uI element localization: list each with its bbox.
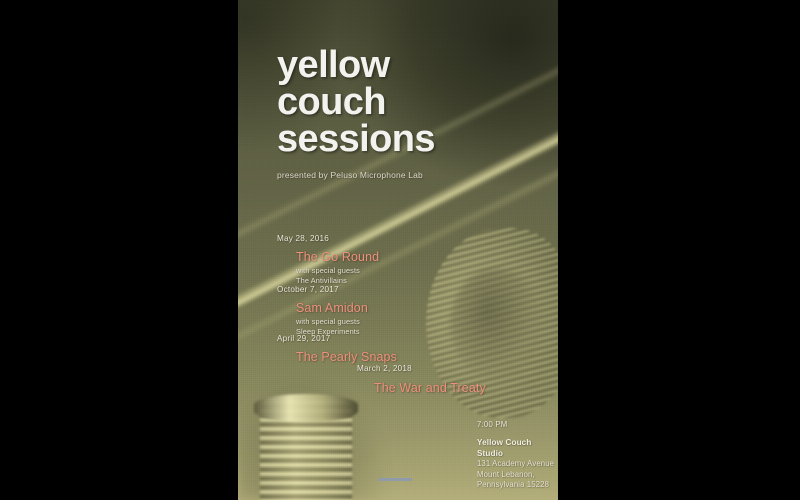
event-date: April 29, 2017 xyxy=(277,334,397,343)
event-details: The Go Round with special guests The Ant… xyxy=(277,250,379,285)
event-details: The War and Treaty xyxy=(357,381,486,395)
showtime: 7:00 PM xyxy=(477,420,507,429)
concert-poster: yellow couch sessions presented by Pelus… xyxy=(238,0,558,500)
venue-block: Yellow Couch Studio 131 Academy Avenue M… xyxy=(477,437,558,491)
event-date: March 2, 2018 xyxy=(357,364,486,373)
title-line-3: sessions xyxy=(277,121,537,158)
event-band-name: The Pearly Snaps xyxy=(296,350,397,364)
venue-region: Pennsylvania 15228 xyxy=(477,480,558,491)
event-band-name: The Go Round xyxy=(296,250,379,264)
event-date: October 7, 2017 xyxy=(277,285,368,294)
event-details: The Pearly Snaps xyxy=(277,350,397,364)
poster-subtitle: presented by Peluso Microphone Lab xyxy=(277,170,423,180)
event-guest-name: The Antivillains xyxy=(296,276,379,286)
title-line-1: yellow xyxy=(277,47,537,84)
venue-street: 131 Academy Avenue xyxy=(477,459,558,470)
event-guest-label: with special guests xyxy=(296,266,379,276)
event-band-name: Sam Amidon xyxy=(296,301,368,315)
poster-title: yellow couch sessions xyxy=(277,47,537,158)
venue-city: Mount Lebanon, xyxy=(477,470,558,481)
event-date: May 28, 2016 xyxy=(277,234,379,243)
title-line-2: couch xyxy=(277,84,537,121)
event-listing-3: April 29, 2017 The Pearly Snaps xyxy=(277,334,397,366)
poster-content: yellow couch sessions presented by Pelus… xyxy=(238,0,558,500)
event-listing-4: March 2, 2018 The War and Treaty xyxy=(357,364,486,397)
accent-bar xyxy=(378,478,412,481)
event-listing-1: May 28, 2016 The Go Round with special g… xyxy=(277,234,379,285)
venue-name: Yellow Couch Studio xyxy=(477,437,558,459)
event-listing-2: October 7, 2017 Sam Amidon with special … xyxy=(277,285,368,336)
event-band-name: The War and Treaty xyxy=(374,381,486,395)
event-details: Sam Amidon with special guests Sleep Exp… xyxy=(277,301,368,336)
screenshot-canvas: yellow couch sessions presented by Pelus… xyxy=(0,0,800,500)
event-guest-label: with special guests xyxy=(296,317,368,327)
